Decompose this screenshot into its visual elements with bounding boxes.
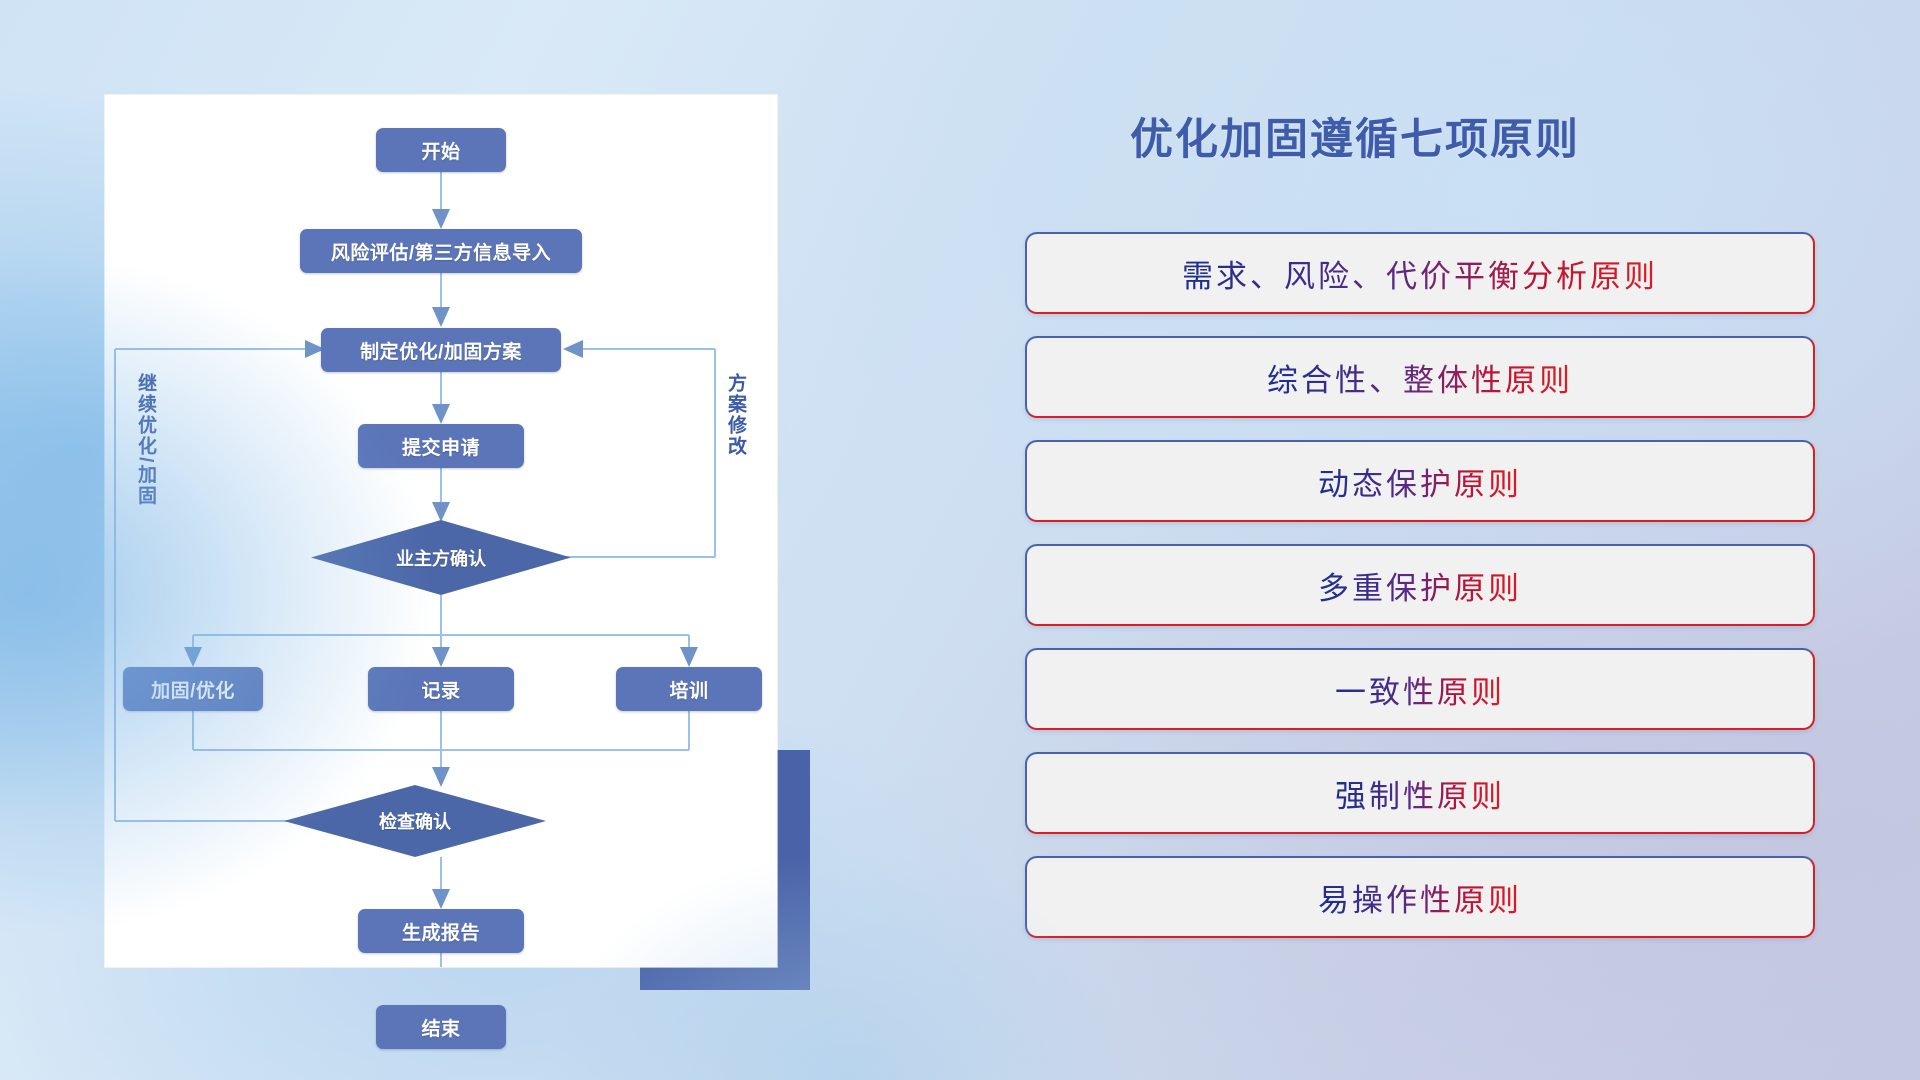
flow-node-start[interactable]: 开始 <box>376 128 506 172</box>
flow-node-label: 风险评估/第三方信息导入 <box>331 238 551 265</box>
principle-label: 多重保护原则 <box>1318 563 1522 608</box>
flow-node-risk-assessment[interactable]: 风险评估/第三方信息导入 <box>300 229 582 273</box>
flow-node-reinforce[interactable]: 加固/优化 <box>123 667 263 711</box>
right-panel-title: 优化加固遵循七项原则 <box>1025 105 1685 167</box>
principle-item-4[interactable]: 多重保护原则 <box>1025 544 1815 626</box>
principle-item-2[interactable]: 综合性、整体性原则 <box>1025 336 1815 418</box>
slide-background: 开始 风险评估/第三方信息导入 制定优化/加固方案 提交申请 业主方确认 加固/… <box>0 0 1920 1080</box>
principle-item-7[interactable]: 易操作性原则 <box>1025 856 1815 938</box>
flow-node-label: 生成报告 <box>402 918 480 945</box>
flow-node-end[interactable]: 结束 <box>376 1005 506 1049</box>
flow-node-training[interactable]: 培训 <box>616 667 762 711</box>
flowchart-card: 开始 风险评估/第三方信息导入 制定优化/加固方案 提交申请 业主方确认 加固/… <box>105 95 777 967</box>
principle-label: 动态保护原则 <box>1318 459 1522 504</box>
principle-label: 一致性原则 <box>1335 667 1505 712</box>
principles-list: 需求、风险、代价平衡分析原则 综合性、整体性原则 动态保护原则 多重保护原则 一… <box>1025 232 1815 938</box>
flow-node-generate-report[interactable]: 生成报告 <box>358 909 524 953</box>
flow-node-label: 加固/优化 <box>151 676 235 703</box>
flow-node-label: 业主方确认 <box>396 545 486 571</box>
flow-node-label: 提交申请 <box>402 433 480 460</box>
principle-item-5[interactable]: 一致性原则 <box>1025 648 1815 730</box>
principle-label: 强制性原则 <box>1335 771 1505 816</box>
flow-node-label: 记录 <box>421 676 460 703</box>
principle-item-3[interactable]: 动态保护原则 <box>1025 440 1815 522</box>
principle-item-6[interactable]: 强制性原则 <box>1025 752 1815 834</box>
flow-node-label: 开始 <box>421 137 460 164</box>
flow-edge-label-plan-revision: 方案修改 <box>725 373 745 457</box>
principle-label: 需求、风险、代价平衡分析原则 <box>1182 251 1658 296</box>
principle-label: 易操作性原则 <box>1318 875 1522 920</box>
flow-edge-label-continue-optimize: 继续优化/加固 <box>135 373 155 506</box>
flow-node-record[interactable]: 记录 <box>368 667 514 711</box>
flow-node-submit-application[interactable]: 提交申请 <box>358 424 524 468</box>
flow-node-plan[interactable]: 制定优化/加固方案 <box>321 328 561 372</box>
principle-label: 综合性、整体性原则 <box>1267 355 1573 400</box>
flow-node-label: 检查确认 <box>379 808 451 834</box>
principle-item-1[interactable]: 需求、风险、代价平衡分析原则 <box>1025 232 1815 314</box>
flow-node-label: 制定优化/加固方案 <box>360 337 522 364</box>
flow-node-label: 结束 <box>421 1014 460 1041</box>
flow-node-label: 培训 <box>669 676 708 703</box>
flowchart: 开始 风险评估/第三方信息导入 制定优化/加固方案 提交申请 业主方确认 加固/… <box>105 95 777 967</box>
